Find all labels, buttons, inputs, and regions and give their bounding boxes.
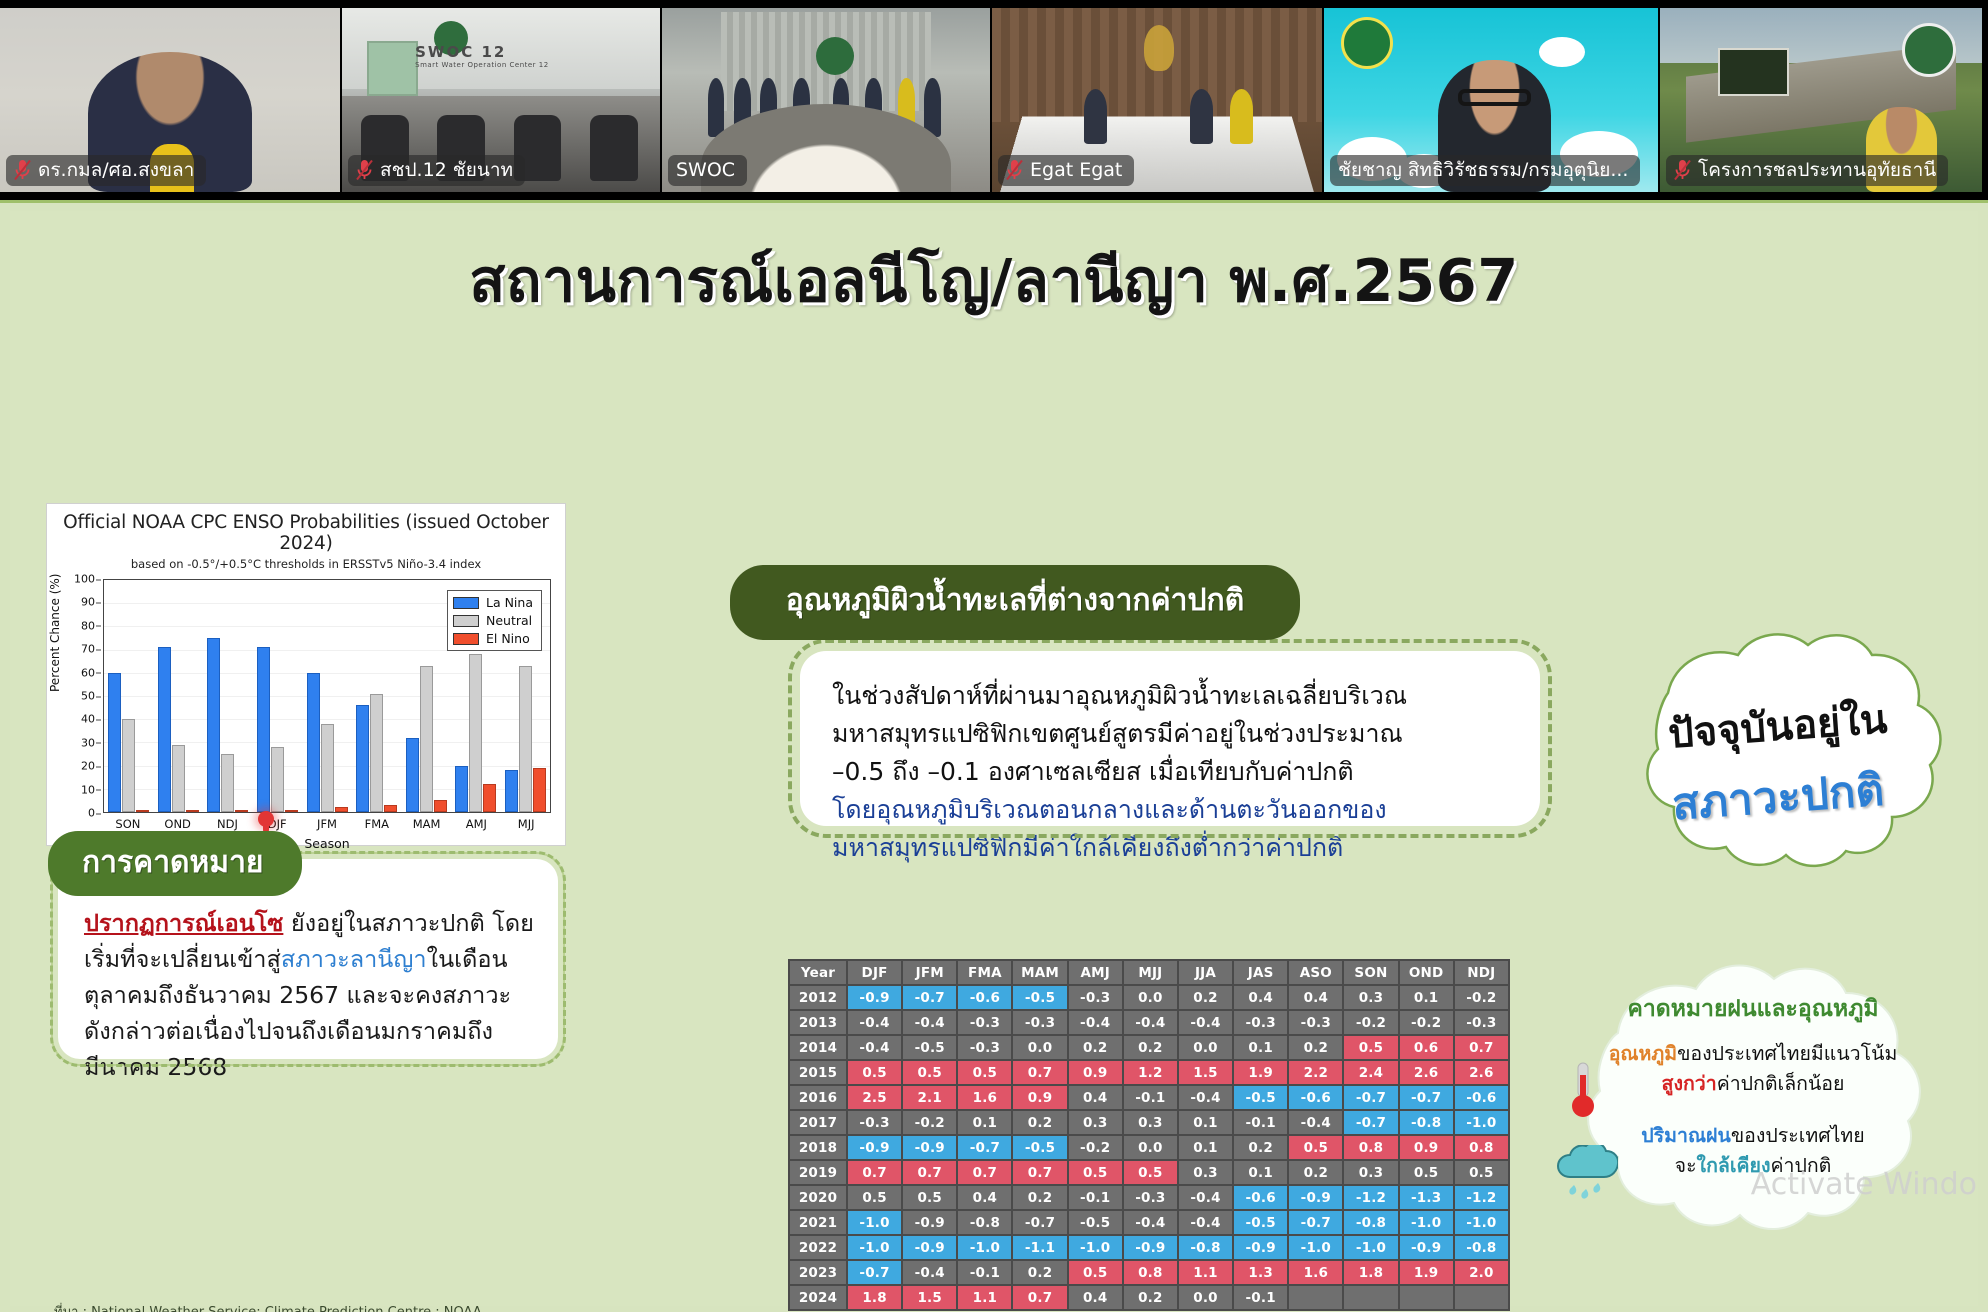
enso-value-cell: 0.2: [1013, 1261, 1066, 1284]
enso-value-cell: 0.3: [1344, 1161, 1397, 1184]
enso-value-cell: 1.6: [958, 1086, 1011, 1109]
video-tile-4-active-speaker[interactable]: ชัยชาญ สิทธิวิรัชธรรม/กรมอุตุนิย...: [1324, 8, 1658, 192]
chart-bar: [335, 807, 348, 812]
enso-value-cell: -0.3: [848, 1111, 901, 1134]
enso-value-cell: -0.9: [903, 1136, 956, 1159]
enso-value-cell: 1.8: [1344, 1261, 1397, 1284]
mic-off-icon: [1006, 159, 1023, 181]
enso-value-cell: -0.3: [1289, 1011, 1342, 1034]
chart-bar: [307, 673, 320, 812]
enso-value-cell: -0.4: [1289, 1111, 1342, 1134]
enso-value-cell: 0.4: [958, 1186, 1011, 1209]
chart-bar-group: [154, 580, 204, 812]
enso-col-header: DJF: [848, 961, 901, 984]
enso-value-cell: -0.4: [1124, 1211, 1177, 1234]
enso-value-cell: 1.2: [1124, 1061, 1177, 1084]
enso-value-cell: 0.4: [1069, 1086, 1122, 1109]
sst-panel-text: ในช่วงสัปดาห์ที่ผ่านมาอุณหภูมิผิวน้ำทะเล…: [832, 677, 1512, 867]
legend-swatch-el-nino: [453, 633, 479, 645]
participant-name-5: โครงการชลประทานอุทัยธานี: [1698, 158, 1936, 182]
participant-name-2: SWOC: [676, 158, 735, 182]
enso-value-cell: 0.4: [1289, 986, 1342, 1009]
enso-value-cell: -0.3: [1124, 1186, 1177, 1209]
enso-table-row: 20150.50.50.50.70.91.21.51.92.22.42.62.6: [790, 1061, 1508, 1084]
enso-value-cell: 0.5: [1400, 1161, 1453, 1184]
enso-value-cell: 0.5: [1289, 1136, 1342, 1159]
enso-value-cell: 0.2: [1013, 1186, 1066, 1209]
enso-table-body: 2012-0.9-0.7-0.6-0.5-0.30.00.20.40.40.30…: [790, 986, 1508, 1309]
enso-value-cell: 0.0: [1179, 1286, 1232, 1309]
chart-y-tick: 100: [74, 573, 95, 586]
chart-bar: [321, 724, 334, 812]
enso-value-cell: -0.4: [1124, 1011, 1177, 1034]
enso-value-cell: 0.1: [1234, 1036, 1287, 1059]
mic-off-icon: [1674, 159, 1691, 181]
enso-value-cell: -0.9: [1289, 1186, 1342, 1209]
current-status-text: ปัจจุบันอยู่ใน สภาวะปกติ: [1558, 629, 1988, 897]
participant-label-0: ดร.กมล/ศอ.สงขลา: [6, 155, 206, 186]
chart-y-tick: 60: [81, 666, 95, 679]
enso-value-cell: -0.2: [903, 1111, 956, 1134]
enso-value-cell: 0.1: [1400, 986, 1453, 1009]
sst-anomaly-panel: อุณหภูมิผิวน้ำทะเลที่ต่างจากค่าปกติ ในช่…: [800, 651, 1540, 826]
enso-value-cell: -1.0: [1455, 1211, 1508, 1234]
enso-col-header: FMA: [958, 961, 1011, 984]
enso-value-cell: 0.5: [903, 1061, 956, 1084]
legend-label-el-nino: El Nino: [486, 631, 530, 646]
enso-value-cell: 0.7: [848, 1161, 901, 1184]
enso-col-header: AMJ: [1069, 961, 1122, 984]
enso-value-cell: -0.5: [1013, 1136, 1066, 1159]
chart-axes: La Nina Neutral El Nino: [103, 579, 551, 813]
chart-y-tick: 40: [81, 713, 95, 726]
windows-activation-watermark: Activate Windo: [1751, 1167, 1977, 1202]
presentation-slide: สถานการณ์เอลนีโญ/ลานีญา พ.ศ.2567 Officia…: [0, 200, 1988, 1312]
outlook-cloud: คาดหมายฝนและอุณหภูมิ อุณหภูมิของประเทศไท…: [1518, 963, 1988, 1263]
forecast-term-lanina: สภาวะลานีญา: [281, 945, 427, 973]
participant-name-4: ชัยชาญ สิทธิวิรัชธรรม/กรมอุตุนิย...: [1338, 158, 1628, 182]
enso-value-cell: -0.4: [1179, 1211, 1232, 1234]
map-pin-icon: [258, 811, 274, 833]
enso-value-cell: 2.5: [848, 1086, 901, 1109]
chart-y-tick: 20: [81, 760, 95, 773]
enso-year-cell: 2022: [790, 1236, 846, 1259]
enso-value-cell: 0.1: [1179, 1111, 1232, 1134]
chart-bar-group: [253, 580, 303, 812]
chart-bar-group: [401, 580, 451, 812]
enso-value-cell: 0.8: [1455, 1136, 1508, 1159]
chart-bar: [257, 647, 270, 812]
video-tile-1[interactable]: SWOC 12Smart Water Operation Center 12 ส…: [342, 8, 660, 192]
enso-value-cell: 0.7: [1013, 1161, 1066, 1184]
enso-year-cell: 2017: [790, 1111, 846, 1134]
enso-value-cell: 0.1: [958, 1111, 1011, 1134]
enso-value-cell: -0.6: [1289, 1086, 1342, 1109]
enso-table-row: 2022-1.0-0.9-1.0-1.1-1.0-0.9-0.8-0.9-1.0…: [790, 1236, 1508, 1259]
mic-off-icon: [14, 159, 31, 181]
sst-line-2: –0.5 ถึง –0.1 องศาเซลเซียส เมื่อเทียบกับ…: [832, 753, 1512, 791]
enso-year-cell: 2020: [790, 1186, 846, 1209]
enso-value-cell: 0.5: [903, 1186, 956, 1209]
video-tile-0[interactable]: ดร.กมล/ศอ.สงขลา: [0, 8, 340, 192]
video-tile-5[interactable]: โครงการชลประทานอุทัยธานี: [1660, 8, 1982, 192]
enso-value-cell: 0.0: [1013, 1036, 1066, 1059]
enso-value-cell: -0.7: [1289, 1211, 1342, 1234]
legend-swatch-la-nina: [453, 597, 479, 609]
current-status-line1: ปัจจุบันอยู่ใน: [1666, 686, 1889, 765]
source-note: ที่มา : National Weather Service; Climat…: [54, 1301, 482, 1312]
enso-value-cell: -0.7: [958, 1136, 1011, 1159]
enso-value-cell: -0.3: [958, 1011, 1011, 1034]
enso-value-cell: -0.6: [1234, 1186, 1287, 1209]
enso-value-cell: 0.3: [1179, 1161, 1232, 1184]
enso-value-cell: 0.7: [1455, 1036, 1508, 1059]
participant-name-1: สชป.12 ชัยนาท: [380, 158, 513, 182]
enso-value-cell: 0.5: [1124, 1161, 1177, 1184]
enso-value-cell: [1289, 1286, 1342, 1309]
current-status-line2: สภาวะปกติ: [1670, 755, 1886, 840]
chart-bar: [186, 810, 199, 812]
enso-table-row: 2021-1.0-0.9-0.8-0.7-0.5-0.4-0.4-0.5-0.7…: [790, 1211, 1508, 1234]
enso-value-cell: [1455, 1286, 1508, 1309]
slide-content: สถานการณ์เอลนีโญ/ลานีญา พ.ศ.2567 Officia…: [10, 211, 1978, 1306]
enso-value-cell: -1.3: [1400, 1186, 1453, 1209]
legend-item-la-nina: La Nina: [453, 595, 533, 610]
enso-value-cell: 2.2: [1289, 1061, 1342, 1084]
enso-value-cell: 0.0: [1179, 1036, 1232, 1059]
enso-col-header: JAS: [1234, 961, 1287, 984]
chart-bar: [434, 800, 447, 812]
chart-x-tick: MJJ: [501, 817, 551, 831]
participant-name-0: ดร.กมล/ศอ.สงขลา: [38, 158, 194, 182]
enso-value-cell: 0.2: [1234, 1136, 1287, 1159]
chart-bar: [207, 638, 220, 812]
enso-value-cell: -0.4: [848, 1036, 901, 1059]
participant-label-5: โครงการชลประทานอุทัยธานี: [1666, 155, 1948, 186]
enso-value-cell: -0.8: [1400, 1111, 1453, 1134]
enso-value-cell: 0.8: [1124, 1261, 1177, 1284]
chart-plot-area: Percent Chance (%) 010203040506070809010…: [57, 575, 555, 853]
enso-value-cell: -0.6: [958, 986, 1011, 1009]
enso-value-cell: 0.2: [1289, 1161, 1342, 1184]
enso-value-cell: 0.4: [1069, 1286, 1122, 1309]
forecast-panel: การคาดหมาย ปรากฏการณ์เอนโซ ยังอยู่ในสภาว…: [58, 859, 558, 1059]
enso-oni-table: YearDJFJFMFMAMAMAMJMJJJJAJASASOSONONDNDJ…: [788, 959, 1510, 1311]
enso-table-row: 2017-0.3-0.20.10.20.30.30.1-0.1-0.4-0.7-…: [790, 1111, 1508, 1134]
enso-value-cell: -0.7: [1400, 1086, 1453, 1109]
enso-value-cell: -0.1: [958, 1261, 1011, 1284]
enso-value-cell: -0.8: [1455, 1236, 1508, 1259]
chart-bar: [122, 719, 135, 812]
enso-col-header: JJA: [1179, 961, 1232, 984]
enso-value-cell: -1.0: [848, 1211, 901, 1234]
enso-value-cell: 2.0: [1455, 1261, 1508, 1284]
enso-value-cell: -0.6: [1455, 1086, 1508, 1109]
enso-table-row: 2014-0.4-0.5-0.30.00.20.20.00.10.20.50.6…: [790, 1036, 1508, 1059]
enso-value-cell: -0.9: [848, 986, 901, 1009]
chart-bar: [469, 654, 482, 812]
legend-label-la-nina: La Nina: [486, 595, 533, 610]
enso-table-row: 20241.81.51.10.70.40.20.0-0.1: [790, 1286, 1508, 1309]
chart-bar: [370, 694, 383, 812]
enso-value-cell: -1.0: [958, 1236, 1011, 1259]
enso-value-cell: -0.3: [1069, 986, 1122, 1009]
enso-value-cell: -0.3: [1455, 1011, 1508, 1034]
enso-value-cell: 0.7: [1013, 1286, 1066, 1309]
sst-line-1: มหาสมุทรแปซิฟิกเขตศูนย์สูตรมีค่าอยู่ในช่…: [832, 715, 1512, 753]
chart-bar: [158, 647, 171, 812]
enso-value-cell: 2.6: [1455, 1061, 1508, 1084]
video-conference-strip: ดร.กมล/ศอ.สงขลา SWOC 12Smart Water Opera…: [0, 0, 1988, 200]
chart-y-tick: 10: [81, 783, 95, 796]
enso-value-cell: 1.9: [1400, 1261, 1453, 1284]
enso-value-cell: -0.8: [958, 1211, 1011, 1234]
enso-value-cell: 0.5: [848, 1061, 901, 1084]
chart-y-tick: 80: [81, 619, 95, 632]
enso-value-cell: 0.6: [1400, 1036, 1453, 1059]
enso-value-cell: -0.4: [903, 1261, 956, 1284]
outlook-rain-rest: ของประเทศไทย: [1731, 1124, 1865, 1147]
outlook-temp-keyword: อุณหภูมิ: [1609, 1042, 1677, 1065]
enso-value-cell: -0.3: [958, 1036, 1011, 1059]
chart-x-tick: JFM: [302, 817, 352, 831]
enso-value-cell: 0.2: [1179, 986, 1232, 1009]
chart-bar: [455, 766, 468, 812]
mic-off-icon: [356, 159, 373, 181]
enso-value-cell: 0.0: [1124, 986, 1177, 1009]
enso-value-cell: 0.3: [1069, 1111, 1122, 1134]
enso-value-cell: -0.7: [1013, 1211, 1066, 1234]
enso-value-cell: -0.5: [903, 1036, 956, 1059]
forecast-text: ปรากฏการณ์เอนโซ ยังอยู่ในสภาวะปกติ โดยเร…: [84, 905, 536, 1085]
chart-bar-group: [104, 580, 154, 812]
chart-bar: [406, 738, 419, 812]
chart-x-tick: OND: [153, 817, 203, 831]
enso-value-cell: -0.5: [1069, 1211, 1122, 1234]
enso-value-cell: 0.3: [1344, 986, 1397, 1009]
enso-value-cell: 2.1: [903, 1086, 956, 1109]
sst-line-0: ในช่วงสัปดาห์ที่ผ่านมาอุณหภูมิผิวน้ำทะเล…: [832, 677, 1512, 715]
chart-bar: [384, 805, 397, 812]
legend-swatch-neutral: [453, 615, 479, 627]
enso-table-row: 20162.52.11.60.90.4-0.1-0.4-0.5-0.6-0.7-…: [790, 1086, 1508, 1109]
enso-value-cell: 0.7: [903, 1161, 956, 1184]
enso-value-cell: 0.8: [1344, 1136, 1397, 1159]
enso-year-cell: 2024: [790, 1286, 846, 1309]
outlook-temp-trend-rest: ค่าปกติเล็กน้อย: [1717, 1072, 1845, 1095]
enso-value-cell: 2.4: [1344, 1061, 1397, 1084]
forecast-term-enso: ปรากฏการณ์เอนโซ: [84, 909, 283, 937]
chart-bar-group: [352, 580, 402, 812]
chart-bar-group: [203, 580, 253, 812]
enso-col-header: SON: [1344, 961, 1397, 984]
enso-value-cell: -0.2: [1069, 1136, 1122, 1159]
enso-year-cell: 2015: [790, 1061, 846, 1084]
enso-col-header: JFM: [903, 961, 956, 984]
enso-value-cell: 1.5: [1179, 1061, 1232, 1084]
enso-value-cell: 0.7: [958, 1161, 1011, 1184]
chart-bar: [420, 666, 433, 812]
enso-col-header: ASO: [1289, 961, 1342, 984]
chart-bar: [108, 673, 121, 812]
enso-value-cell: -0.3: [1013, 1011, 1066, 1034]
forecast-badge: การคาดหมาย: [48, 831, 302, 896]
enso-value-cell: 1.8: [848, 1286, 901, 1309]
outlook-text: คาดหมายฝนและอุณหภูมิ อุณหภูมิของประเทศไท…: [1518, 963, 1988, 1263]
current-status-cloud: ปัจจุบันอยู่ใน สภาวะปกติ: [1558, 629, 1988, 897]
enso-table-row: 20190.70.70.70.70.50.50.30.10.20.30.50.5: [790, 1161, 1508, 1184]
participant-label-2: SWOC: [668, 155, 747, 186]
enso-value-cell: [1344, 1286, 1397, 1309]
enso-year-cell: 2019: [790, 1161, 846, 1184]
legend-label-neutral: Neutral: [486, 613, 532, 628]
enso-value-cell: 0.2: [1069, 1036, 1122, 1059]
enso-value-cell: 0.5: [848, 1186, 901, 1209]
enso-value-cell: -0.1: [1069, 1186, 1122, 1209]
enso-value-cell: -1.0: [1455, 1111, 1508, 1134]
enso-year-cell: 2018: [790, 1136, 846, 1159]
chart-bar: [533, 768, 546, 812]
sst-line-4: มหาสมุทรแปซิฟิกมีค่าใกล้เคียงถึงต่ำกว่าค…: [832, 829, 1512, 867]
enso-table-row: 2023-0.7-0.4-0.10.20.50.81.11.31.61.81.9…: [790, 1261, 1508, 1284]
participant-name-3: Egat Egat: [1030, 158, 1122, 182]
chart-y-tick: 90: [81, 596, 95, 609]
chart-x-axis-ticks: SONONDNDJDJFJFMFMAMAMAMJMJJ: [103, 817, 551, 831]
enso-value-cell: 0.3: [1124, 1111, 1177, 1134]
chart-y-tick: 30: [81, 736, 95, 749]
enso-value-cell: -1.2: [1344, 1186, 1397, 1209]
enso-value-cell: 0.9: [1400, 1136, 1453, 1159]
enso-value-cell: -0.4: [848, 1011, 901, 1034]
video-tile-3[interactable]: Egat Egat: [992, 8, 1322, 192]
enso-year-cell: 2023: [790, 1261, 846, 1284]
enso-col-header: MJJ: [1124, 961, 1177, 984]
enso-value-cell: -0.9: [848, 1136, 901, 1159]
enso-value-cell: -0.7: [1344, 1111, 1397, 1134]
enso-value-cell: -0.9: [903, 1211, 956, 1234]
enso-value-cell: -0.8: [1344, 1211, 1397, 1234]
enso-value-cell: -0.5: [1013, 986, 1066, 1009]
chart-x-tick: AMJ: [451, 817, 501, 831]
outlook-temp-line: อุณหภูมิของประเทศไทยมีแนวโน้ม สูงกว่าค่า…: [1609, 1039, 1898, 1099]
legend-item-neutral: Neutral: [453, 613, 533, 628]
enso-value-cell: 1.1: [1179, 1261, 1232, 1284]
chart-y-tick: 50: [81, 690, 95, 703]
noaa-enso-probability-chart: Official NOAA CPC ENSO Probabilities (is…: [46, 503, 566, 846]
chart-bar-group: [302, 580, 352, 812]
chart-x-tick: NDJ: [203, 817, 253, 831]
participant-label-3: Egat Egat: [998, 155, 1134, 186]
enso-col-header: NDJ: [1455, 961, 1508, 984]
chart-title: Official NOAA CPC ENSO Probabilities (is…: [57, 512, 555, 554]
enso-value-cell: -1.0: [1289, 1236, 1342, 1259]
enso-value-cell: -1.0: [1344, 1236, 1397, 1259]
enso-value-cell: -0.4: [1179, 1011, 1232, 1034]
enso-value-cell: 0.7: [1013, 1061, 1066, 1084]
enso-value-cell: -0.7: [903, 986, 956, 1009]
enso-value-cell: 1.3: [1234, 1261, 1287, 1284]
enso-value-cell: 1.1: [958, 1286, 1011, 1309]
legend-item-el-nino: El Nino: [453, 631, 533, 646]
chart-bar: [136, 810, 149, 812]
enso-value-cell: -1.2: [1455, 1186, 1508, 1209]
enso-value-cell: -1.0: [1400, 1211, 1453, 1234]
enso-value-cell: -0.5: [1234, 1211, 1287, 1234]
enso-year-cell: 2013: [790, 1011, 846, 1034]
outlook-rain-prefix: จะ: [1675, 1154, 1697, 1177]
enso-value-cell: -0.7: [1344, 1086, 1397, 1109]
enso-value-cell: 1.5: [903, 1286, 956, 1309]
chart-bar: [505, 770, 518, 812]
enso-value-cell: -0.1: [1234, 1286, 1287, 1309]
chart-x-tick: SON: [103, 817, 153, 831]
enso-value-cell: -0.9: [1124, 1236, 1177, 1259]
enso-value-cell: -0.2: [1455, 986, 1508, 1009]
enso-value-cell: 0.5: [1344, 1036, 1397, 1059]
chart-legend: La Nina Neutral El Nino: [447, 590, 542, 651]
page-title: สถานการณ์เอลนีโญ/ลานีญา พ.ศ.2567: [10, 233, 1978, 327]
enso-table-row: 20200.50.50.40.2-0.1-0.3-0.4-0.6-0.9-1.2…: [790, 1186, 1508, 1209]
enso-value-cell: 0.5: [1069, 1161, 1122, 1184]
chart-y-tick: 70: [81, 643, 95, 656]
enso-value-cell: 1.9: [1234, 1061, 1287, 1084]
enso-value-cell: -1.0: [1069, 1236, 1122, 1259]
chart-bar: [356, 705, 369, 812]
enso-table-row: 2012-0.9-0.7-0.6-0.5-0.30.00.20.40.40.30…: [790, 986, 1508, 1009]
enso-value-cell: 0.2: [1289, 1036, 1342, 1059]
enso-col-header: MAM: [1013, 961, 1066, 984]
outlook-heading: คาดหมายฝนและอุณหภูมิ: [1627, 991, 1878, 1027]
chart-bar: [235, 810, 248, 812]
enso-value-cell: -0.3: [1234, 1011, 1287, 1034]
chart-x-tick: FMA: [352, 817, 402, 831]
enso-value-cell: -0.4: [1179, 1086, 1232, 1109]
enso-col-header: OND: [1400, 961, 1453, 984]
enso-value-cell: 0.2: [1124, 1286, 1177, 1309]
enso-value-cell: 1.6: [1289, 1261, 1342, 1284]
chart-bar: [483, 784, 496, 812]
enso-table-row: 2013-0.4-0.4-0.3-0.3-0.4-0.4-0.4-0.3-0.3…: [790, 1011, 1508, 1034]
chart-y-axis-ticks: 0102030405060708090100: [57, 579, 101, 813]
enso-value-cell: 0.1: [1234, 1161, 1287, 1184]
enso-value-cell: -0.5: [1234, 1086, 1287, 1109]
enso-value-cell: 0.9: [1069, 1061, 1122, 1084]
enso-value-cell: [1400, 1286, 1453, 1309]
enso-value-cell: 0.5: [1069, 1261, 1122, 1284]
outlook-temp-rest: ของประเทศไทยมีแนวโน้ม: [1677, 1042, 1897, 1065]
chart-x-tick: MAM: [402, 817, 452, 831]
enso-value-cell: 0.2: [1013, 1111, 1066, 1134]
enso-value-cell: 0.5: [1455, 1161, 1508, 1184]
enso-value-cell: 0.5: [958, 1061, 1011, 1084]
video-tile-2[interactable]: SWOC: [662, 8, 990, 192]
participant-label-1: สชป.12 ชัยนาท: [348, 155, 525, 186]
enso-value-cell: 0.9: [1013, 1086, 1066, 1109]
enso-value-cell: -0.2: [1400, 1011, 1453, 1034]
enso-value-cell: -0.4: [1069, 1011, 1122, 1034]
outlook-rain-keyword: ปริมาณฝน: [1641, 1124, 1731, 1147]
enso-value-cell: -0.4: [1179, 1186, 1232, 1209]
enso-value-cell: -0.9: [1400, 1236, 1453, 1259]
sst-line-3: โดยอุณหภูมิบริเวณตอนกลางและด้านตะวันออกข…: [832, 791, 1512, 829]
enso-value-cell: -0.9: [903, 1236, 956, 1259]
sst-panel-heading: อุณหภูมิผิวน้ำทะเลที่ต่างจากค่าปกติ: [730, 565, 1300, 640]
enso-value-cell: 0.4: [1234, 986, 1287, 1009]
enso-value-cell: -0.2: [1344, 1011, 1397, 1034]
enso-table-header-row: YearDJFJFMFMAMAMAMJMJJJJAJASASOSONONDNDJ: [790, 961, 1508, 984]
enso-value-cell: -1.0: [848, 1236, 901, 1259]
enso-value-cell: -0.9: [1234, 1236, 1287, 1259]
